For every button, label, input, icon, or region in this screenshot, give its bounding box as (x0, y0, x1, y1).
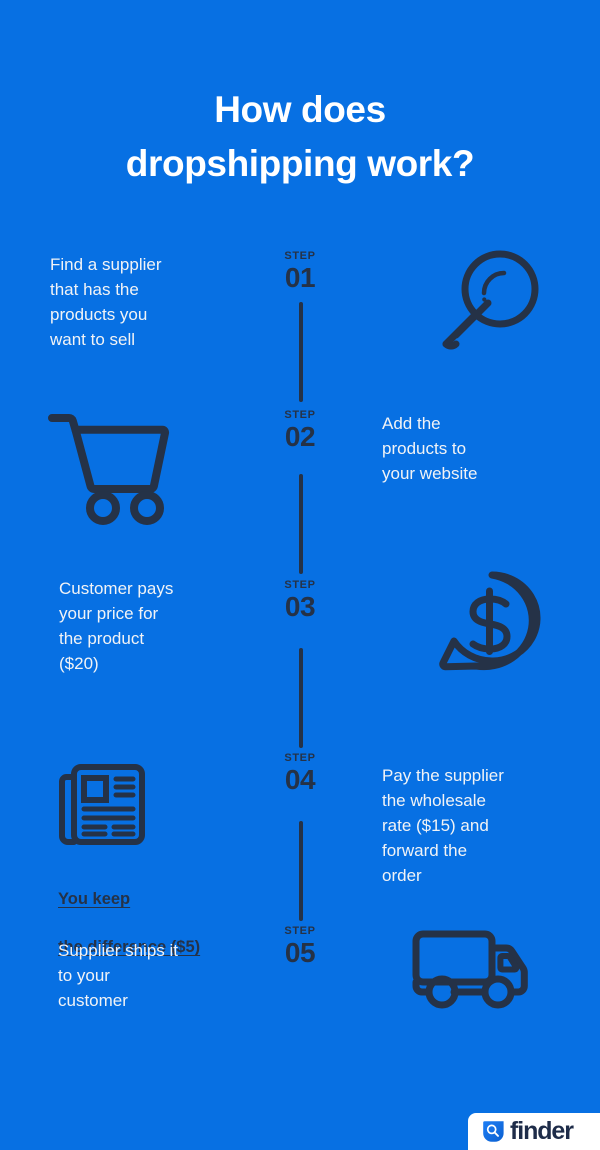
page-title-line-1: How does (0, 83, 600, 137)
step-text-02: Add the products to your website (382, 411, 572, 486)
step-text-05: Supplier ships it to your customer (58, 938, 258, 1013)
finder-logo[interactable]: finder (468, 1113, 600, 1150)
step-number-02: 02 (265, 422, 335, 452)
page-title: How does dropshipping work? (0, 83, 600, 191)
step-number-05: 05 (265, 938, 335, 968)
page-title-line-2: dropshipping work? (0, 137, 600, 191)
timeline-segment-4 (299, 821, 303, 921)
shopping-cart-icon (45, 408, 173, 526)
timeline-segment-1 (299, 302, 303, 402)
profit-highlight-line-1: You keep (58, 890, 130, 908)
step-number-01: 01 (265, 263, 335, 293)
step-marker-04: STEP 04 (265, 752, 335, 795)
finder-shield-search-icon (481, 1119, 506, 1144)
newspaper-icon (58, 760, 146, 850)
timeline-segment-3 (299, 648, 303, 748)
step-number-04: 04 (265, 765, 335, 795)
step-text-04: Pay the supplier the wholesale rate ($15… (382, 763, 582, 888)
step-number-03: 03 (265, 592, 335, 622)
step-marker-01: STEP 01 (265, 250, 335, 293)
magnifier-icon (432, 245, 544, 357)
step-text-01: Find a supplier that has the products yo… (50, 252, 260, 352)
step-marker-05: STEP 05 (265, 925, 335, 968)
step-text-03: Customer pays your price for the product… (59, 576, 264, 676)
infographic-canvas: How does dropshipping work? STEP 01 Find… (0, 0, 600, 1150)
step-marker-02: STEP 02 (265, 409, 335, 452)
delivery-truck-icon (410, 928, 532, 1012)
dollar-speech-bubble-icon (436, 568, 544, 672)
step-marker-03: STEP 03 (265, 579, 335, 622)
timeline-segment-2 (299, 474, 303, 574)
finder-wordmark: finder (510, 1119, 573, 1144)
